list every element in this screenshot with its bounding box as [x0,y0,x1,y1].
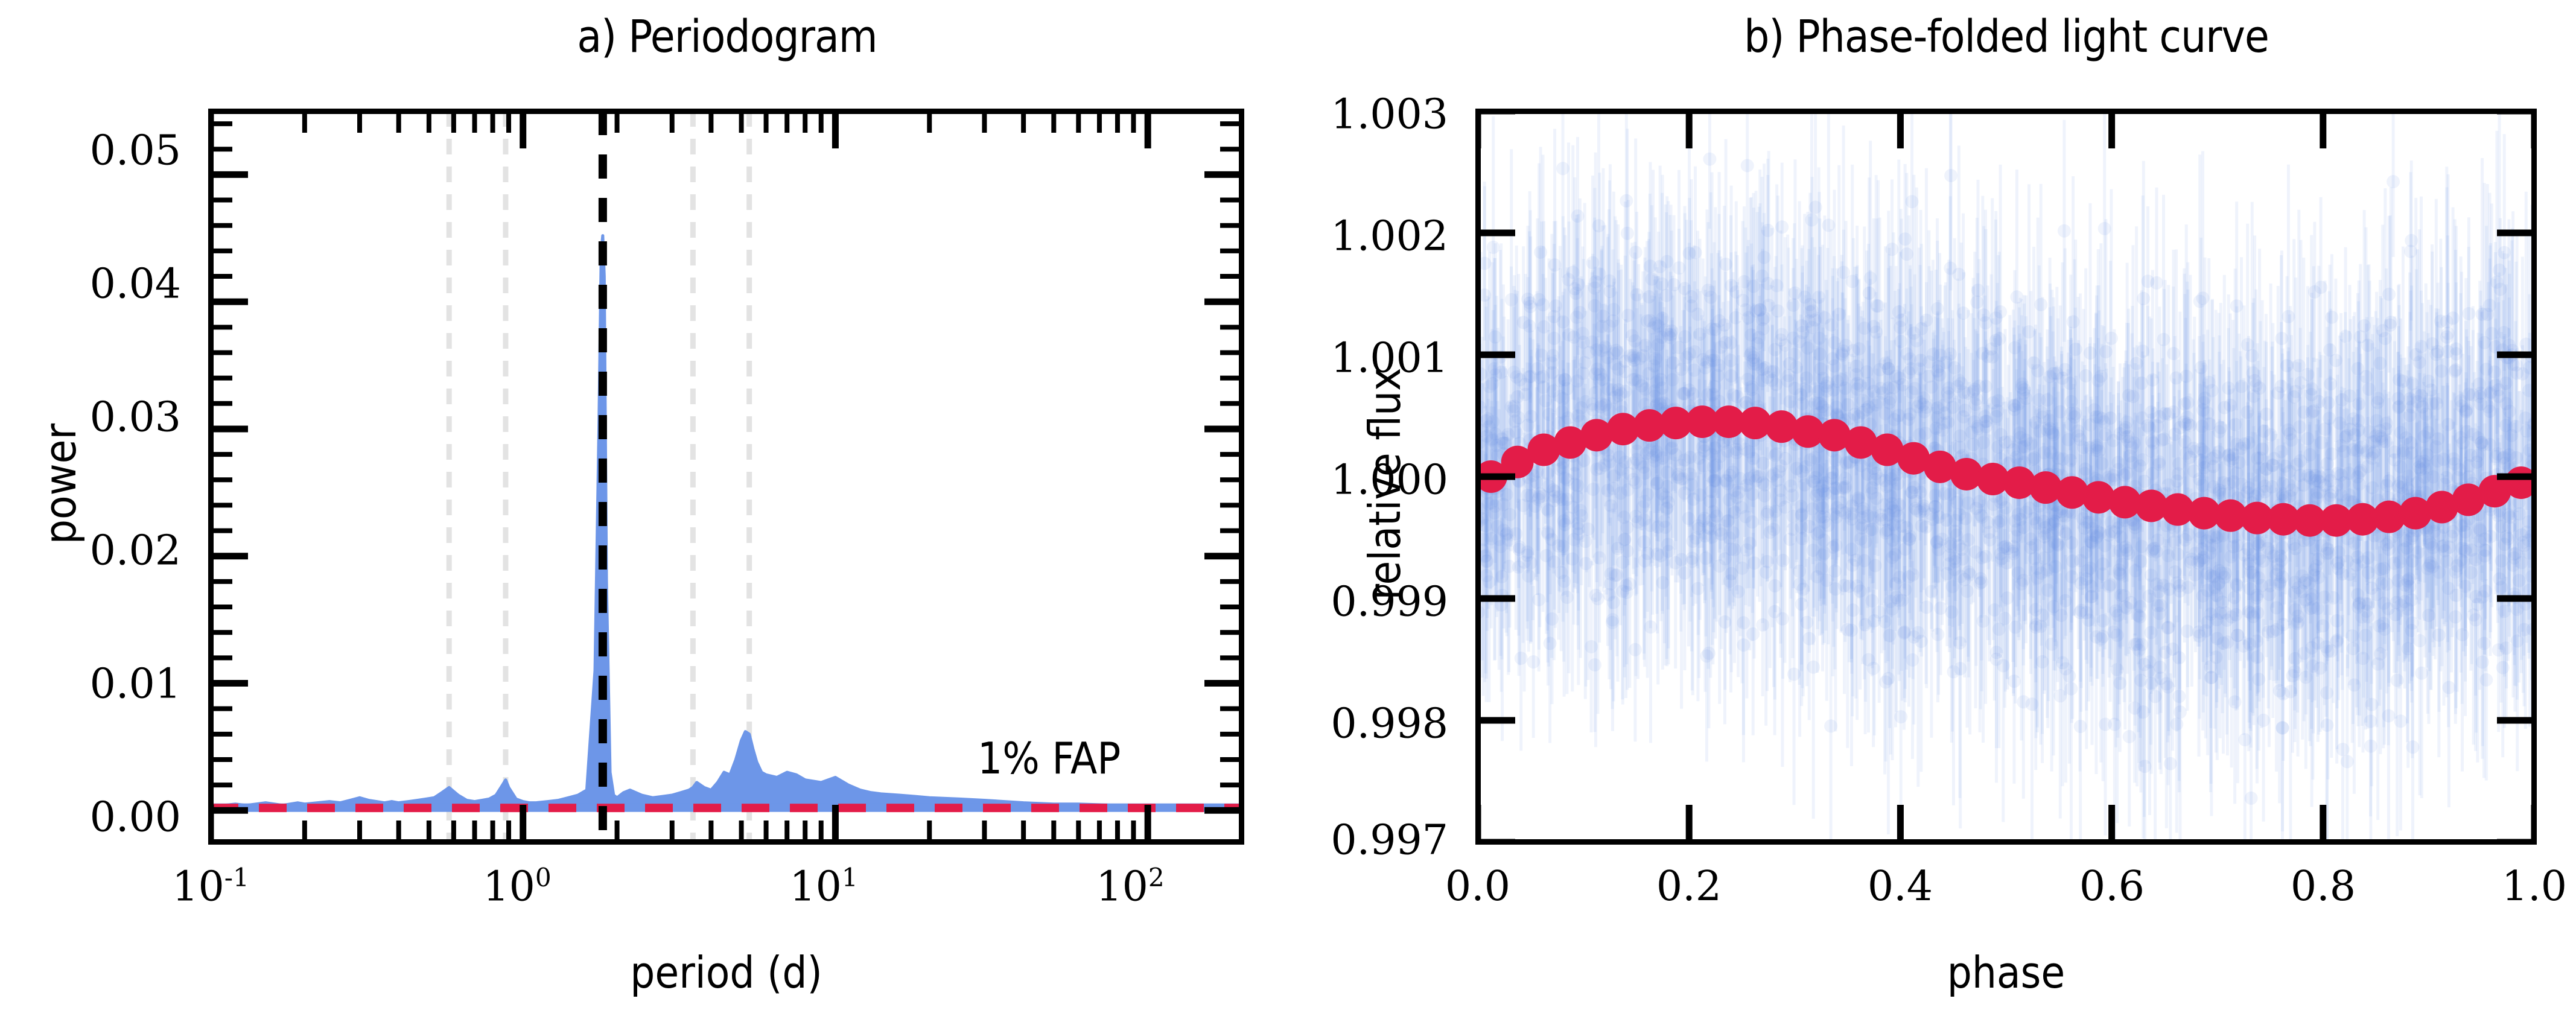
panel-a-xtick-exp-3: 2 [1148,863,1165,892]
panel-b-ytick-0: 0.997 [1267,817,1448,865]
panel-a-ytick-3: 0.03 [0,394,181,442]
panel-a-xtick-exp-1: 0 [535,863,552,892]
panel-a-periodogram: a) Periodogram 0.05 0.04 0.03 0.02 0.01 … [0,0,1291,1019]
panel-a-xtick-exp-0: -1 [224,863,249,892]
panel-b-xtick-0: 0.0 [1445,863,1510,910]
panel-a-ytick-2: 0.02 [0,527,181,575]
panel-b-xtick-1: 0.2 [1656,863,1722,910]
panel-a-xaxis-label: period (d) [208,947,1244,998]
panel-b-ytick-5: 1.002 [1267,213,1448,261]
panel-a-fap-annotation: 1% FAP [978,733,1121,784]
panel-a-ytick-1: 0.01 [0,661,181,708]
panel-b-xtick-4: 0.8 [2291,863,2356,910]
panel-b-yaxis-label: relative flux [1360,212,1410,755]
panel-a-xtick-2: 101 [789,863,857,911]
panel-b-ytick-2: 0.999 [1267,579,1448,626]
panel-b-phase-folded: b) Phase-folded light curve 1.003 1.002 … [1291,0,2576,1019]
panel-b-xtick-3: 0.6 [2079,863,2145,910]
panel-a-xtick-3: 102 [1096,863,1164,911]
panel-b-ytick-1: 0.998 [1267,700,1448,748]
panel-a-ytick-0: 0.00 [0,794,181,842]
panel-a-xtick-0: 10-1 [172,863,249,911]
panel-b-xaxis-label: phase [1475,947,2537,998]
panel-a-ytick-5: 0.05 [0,127,181,175]
panel-a-ytick-4: 0.04 [0,261,181,308]
panel-b-xtick-5: 1.0 [2502,863,2567,910]
figure-canvas: a) Periodogram 0.05 0.04 0.03 0.02 0.01 … [0,0,2576,1019]
panel-a-xtick-1: 100 [483,863,551,911]
panel-b-ytick-3: 1.000 [1267,457,1448,504]
panel-b-ytick-4: 1.001 [1267,335,1448,383]
panel-b-axes-frame [1475,109,2537,845]
panel-a-yaxis-label: power [35,303,86,665]
panel-b-xtick-2: 0.4 [1868,863,1933,910]
panel-b-ytick-6: 1.003 [1267,91,1448,139]
panel-a-title: a) Periodogram [208,11,1246,63]
panel-b-title: b) Phase-folded light curve [1475,11,2537,63]
panel-a-xtick-exp-2: 1 [842,863,858,892]
